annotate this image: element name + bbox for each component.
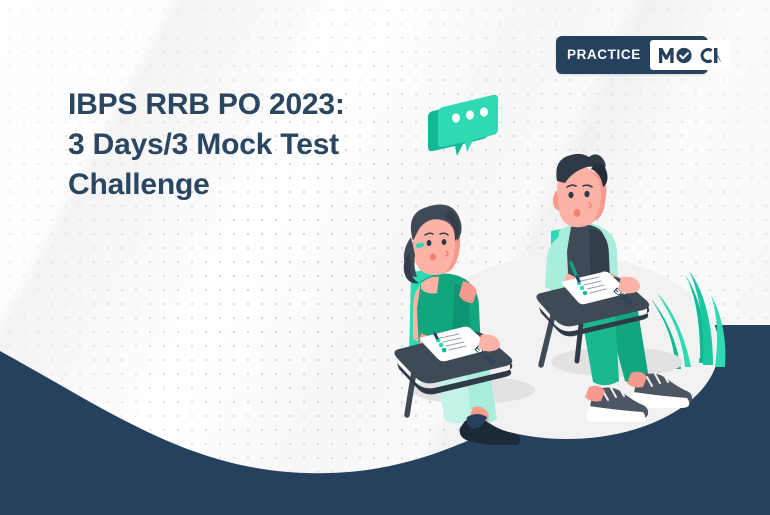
logo-o-circle <box>676 47 691 62</box>
logo-word-mock-panel <box>650 40 730 70</box>
promo-banner: PRACTICE IBPS RRB PO 2023: 3 Days/3 Mock… <box>0 0 770 515</box>
bubble-dot-2 <box>466 110 474 119</box>
logo-mock-text <box>659 47 721 64</box>
male-head <box>553 154 608 227</box>
two-students-taking-exam-illustration: EXAM <box>355 85 770 445</box>
speech-bubble-icon <box>428 95 498 156</box>
bubble-dot-1 <box>452 113 460 122</box>
bubble-dot-3 <box>480 107 488 116</box>
logo-word-practice: PRACTICE <box>560 48 650 62</box>
female-head <box>404 205 462 284</box>
practicemock-logo[interactable]: PRACTICE <box>556 36 708 74</box>
